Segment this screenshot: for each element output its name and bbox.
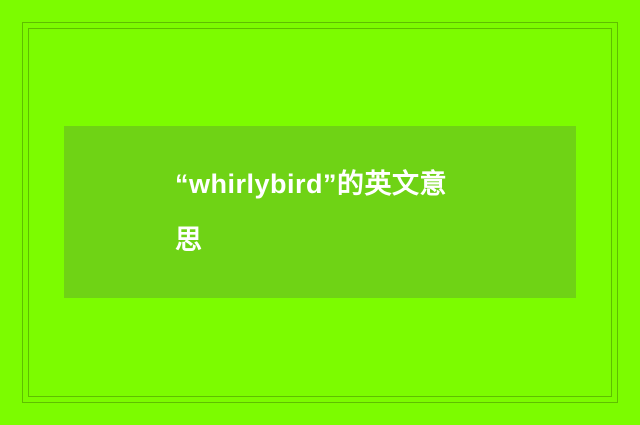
image-canvas: “whirlybird”的英文意思 [0,0,640,425]
caption-text: “whirlybird”的英文意思 [175,156,465,268]
caption-panel: “whirlybird”的英文意思 [64,126,576,298]
